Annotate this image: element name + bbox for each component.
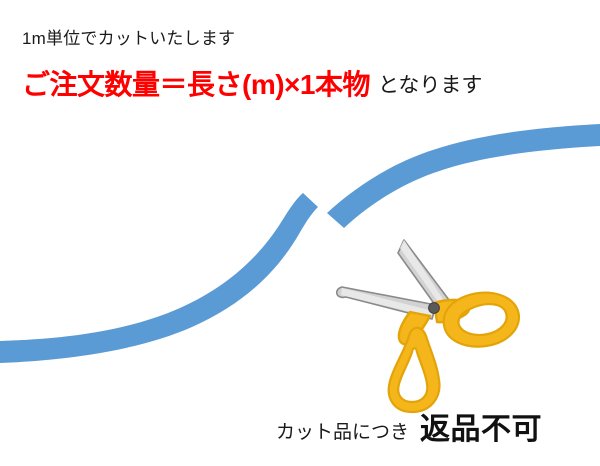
headline-tail-text: となります	[370, 74, 482, 97]
cut-info-banner: 1m単位でカットいたします ご注文数量＝長さ(m)×1本物となります カット品に…	[0, 0, 600, 466]
cable-right-segment	[327, 124, 600, 228]
footer-note-large: 返品不可	[409, 413, 542, 446]
footer-note-small: カット品につき	[276, 422, 409, 443]
footer-note: カット品につき返品不可	[276, 408, 542, 457]
headline-line-1: 1m単位でカットいたします	[22, 28, 235, 50]
headline-emphasis-text: ご注文数量＝長さ(m)×1本物	[22, 69, 370, 100]
headline-line-2: ご注文数量＝長さ(m)×1本物となります	[22, 68, 482, 107]
cable-left-segment	[0, 193, 318, 363]
